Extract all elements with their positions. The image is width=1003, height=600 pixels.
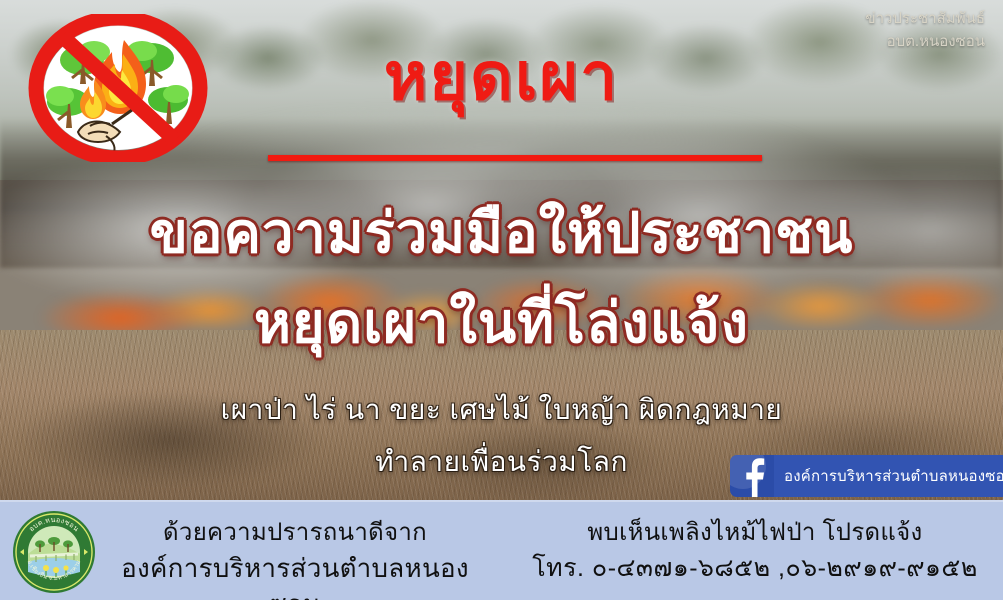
footer-phone-numbers: โทร. ๐-๔๓๗๑-๖๘๕๒ ,๐๖-๒๙๑๙-๙๑๕๒ bbox=[520, 550, 990, 586]
poster-headline: หยุดเผา bbox=[0, 24, 1003, 129]
footer-goodwill-line: ด้วยความปรารถนาดีจาก bbox=[100, 516, 490, 550]
poster-footer: อบต.หนองซอน อ.เชียงยืน จ.มหาสารคาม ด้วยค… bbox=[0, 500, 1003, 600]
footer-right-block: พบเห็นเพลิงไหม้ไฟป่า โปรดแจ้ง โทร. ๐-๔๓๗… bbox=[520, 516, 990, 586]
red-divider-line bbox=[268, 155, 762, 161]
footer-report-instruction: พบเห็นเพลิงไหม้ไฟป่า โปรดแจ้ง bbox=[520, 516, 990, 550]
footer-organization-name: องค์การบริหารส่วนตำบลหนองซอน bbox=[100, 550, 490, 600]
facebook-f-icon bbox=[730, 455, 774, 497]
message-line-2: หยุดเผาในที่โล่งแจ้ง bbox=[0, 278, 1003, 367]
sub-message-line-1: เผาป่า ไร่ นา ขยะ เศษไม้ ใบหญ้า ผิดกฎหมา… bbox=[0, 388, 1003, 432]
fire-prevention-poster: ข่าวประชาสัมพันธ์ อบต.หนองซอน หยุดเผา ขอ… bbox=[0, 0, 1003, 600]
facebook-page-name: องค์การบริหารส่วนตำบลหนองซอน bbox=[774, 455, 1003, 497]
municipal-seal-icon: อบต.หนองซอน อ.เชียงยืน จ.มหาสารคาม bbox=[12, 510, 96, 594]
message-line-1: ขอความร่วมมือให้ประชาชน bbox=[0, 188, 1003, 277]
footer-left-block: ด้วยความปรารถนาดีจาก องค์การบริหารส่วนตำ… bbox=[100, 516, 490, 600]
facebook-page-badge[interactable]: องค์การบริหารส่วนตำบลหนองซอน bbox=[730, 455, 1003, 497]
